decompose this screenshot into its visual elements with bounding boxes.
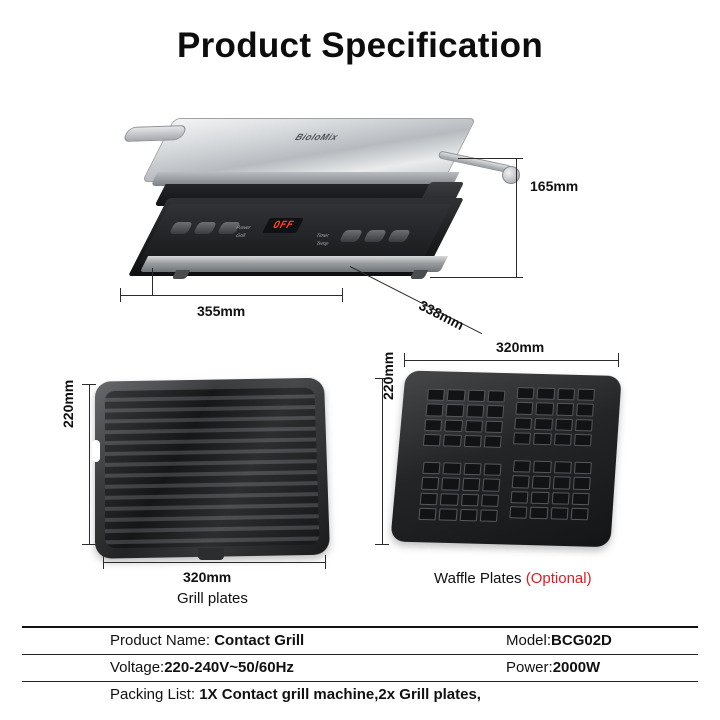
packing-list-label: Packing List: (110, 686, 195, 703)
dim-width-line (120, 295, 342, 296)
waffle-quadrant-top-right (513, 387, 595, 446)
model-value: BCG02D (551, 632, 612, 649)
page-title: Product Specification (0, 26, 720, 66)
waffle-quadrant-bottom-left (418, 462, 501, 522)
dim-height-label: 165mm (530, 178, 578, 194)
waffle-plates-caption: Waffle Plates (Optional) (434, 570, 592, 587)
dim-grill-height-tick-top (82, 384, 96, 385)
product-specification-page: Product Specification BioloMix Power Gri… (0, 0, 720, 720)
grill-foot-right (410, 270, 429, 279)
dim-depth-label: 338mm (416, 297, 466, 333)
waffle-plate-image (390, 370, 621, 547)
dim-waffle-width-tick-right (618, 353, 619, 367)
spec-row-3: Packing List: 1X Contact grill machine,2… (22, 682, 698, 708)
contact-grill-illustration: BioloMix Power Grill Timer Temp OFF (120, 100, 540, 300)
waffle-plates-optional: (Optional) (526, 570, 592, 587)
grill-plate-image (95, 378, 330, 559)
dim-grill-width-line (103, 562, 325, 563)
dim-grill-height-label: 220mm (60, 380, 76, 428)
spec-row-1-right: Model:BCG02D (506, 628, 612, 654)
dim-width-tick-right (342, 288, 343, 302)
dim-grill-width-tick-left (103, 555, 104, 569)
panel-label-3: Timer (314, 233, 330, 239)
hinge-knob (502, 166, 520, 184)
power-label: Power: (506, 659, 553, 676)
product-name-label: Product Name: (110, 632, 210, 649)
dim-waffle-height-tick-bottom (375, 544, 389, 545)
dim-waffle-width-line (404, 360, 618, 361)
model-label: Model: (506, 632, 551, 649)
waffle-quadrant-bottom-right (509, 460, 592, 520)
dim-grill-height-line (89, 384, 90, 544)
dim-height-ext-bottom (430, 277, 516, 278)
dim-grill-width-tick-right (325, 555, 326, 569)
waffle-quadrant-top-left (423, 389, 505, 448)
waffle-plates-label: Waffle Plates (434, 570, 522, 587)
grill-plate-tab (198, 548, 224, 560)
dim-grill-width-label: 320mm (183, 569, 231, 585)
dim-waffle-width-label: 320mm (496, 339, 544, 355)
grill-plates-caption: Grill plates (177, 590, 248, 607)
dim-width-extension-left (152, 268, 153, 296)
dim-grill-height-tick-bottom (82, 544, 96, 545)
dim-waffle-height-label: 220mm (380, 352, 396, 400)
specification-table: Product Name: Contact Grill Model:BCG02D… (22, 626, 698, 708)
dim-height-line (516, 158, 517, 278)
dim-width-tick-left (120, 288, 121, 302)
spec-row-2-left: Voltage:220-240V~50/60Hz (110, 655, 294, 681)
spec-row-2-right: Power:2000W (506, 655, 600, 681)
spec-row-1: Product Name: Contact Grill Model:BCG02D (22, 628, 698, 654)
dim-waffle-height-line (382, 378, 383, 544)
spec-row-1-left: Product Name: Contact Grill (110, 628, 304, 654)
voltage-label: Voltage: (110, 659, 164, 676)
brand-logo: BioloMix (293, 132, 340, 142)
dim-waffle-width-tick-left (404, 353, 405, 367)
voltage-value: 220-240V~50/60Hz (164, 659, 294, 676)
grill-plate-notch (92, 440, 100, 462)
spec-row-2: Voltage:220-240V~50/60Hz Power:2000W (22, 655, 698, 681)
product-name-value: Contact Grill (214, 632, 304, 649)
packing-list-value: 1X Contact grill machine,2x Grill plates… (199, 686, 481, 703)
dim-height-ext-top (458, 158, 516, 159)
dim-width-label: 355mm (197, 303, 245, 319)
grill-foot-left (172, 270, 191, 279)
spec-row-3-left: Packing List: 1X Contact grill machine,2… (110, 682, 481, 708)
grill-plate-sheen (95, 378, 330, 559)
power-value: 2000W (553, 659, 601, 676)
